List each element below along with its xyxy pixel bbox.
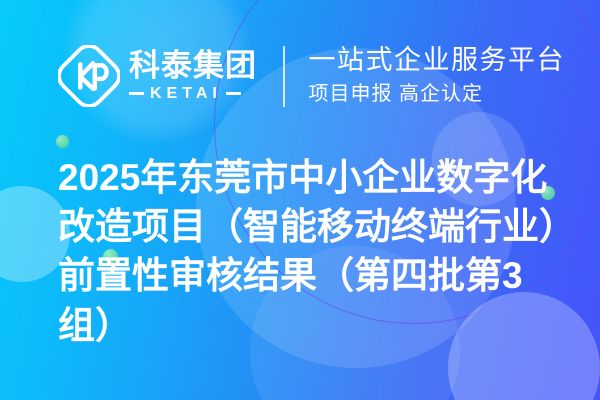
- green-dot-icon-upper-left: [56, 135, 69, 148]
- brand-name-en: KETAI: [150, 86, 222, 102]
- brand-name-cn: 科泰集团: [129, 50, 257, 82]
- wordmark-rule-right: [226, 92, 241, 95]
- promo-banner: 科泰集团 KETAI 一站式企业服务平台 项目申报 高企认定 2025年东莞市中…: [0, 0, 600, 400]
- tagline-secondary: 项目申报 高企认定: [309, 81, 566, 107]
- brand-name-en-row: KETAI: [129, 86, 257, 102]
- ketai-monogram-icon: [58, 45, 120, 107]
- brand-tagline: 一站式企业服务平台 项目申报 高企认定: [309, 45, 566, 107]
- brand-wordmark: 科泰集团 KETAI: [129, 50, 257, 102]
- wordmark-rule-left: [129, 92, 144, 95]
- header-divider: [283, 46, 285, 107]
- banner-header: 科泰集团 KETAI 一站式企业服务平台 项目申报 高企认定: [58, 36, 565, 116]
- brand-logo[interactable]: 科泰集团 KETAI: [58, 36, 257, 116]
- tagline-primary: 一站式企业服务平台: [309, 45, 566, 77]
- page-title: 2025年东莞市中小企业数字化改造项目（智能移动终端行业）前置性审核结果（第四批…: [58, 153, 570, 350]
